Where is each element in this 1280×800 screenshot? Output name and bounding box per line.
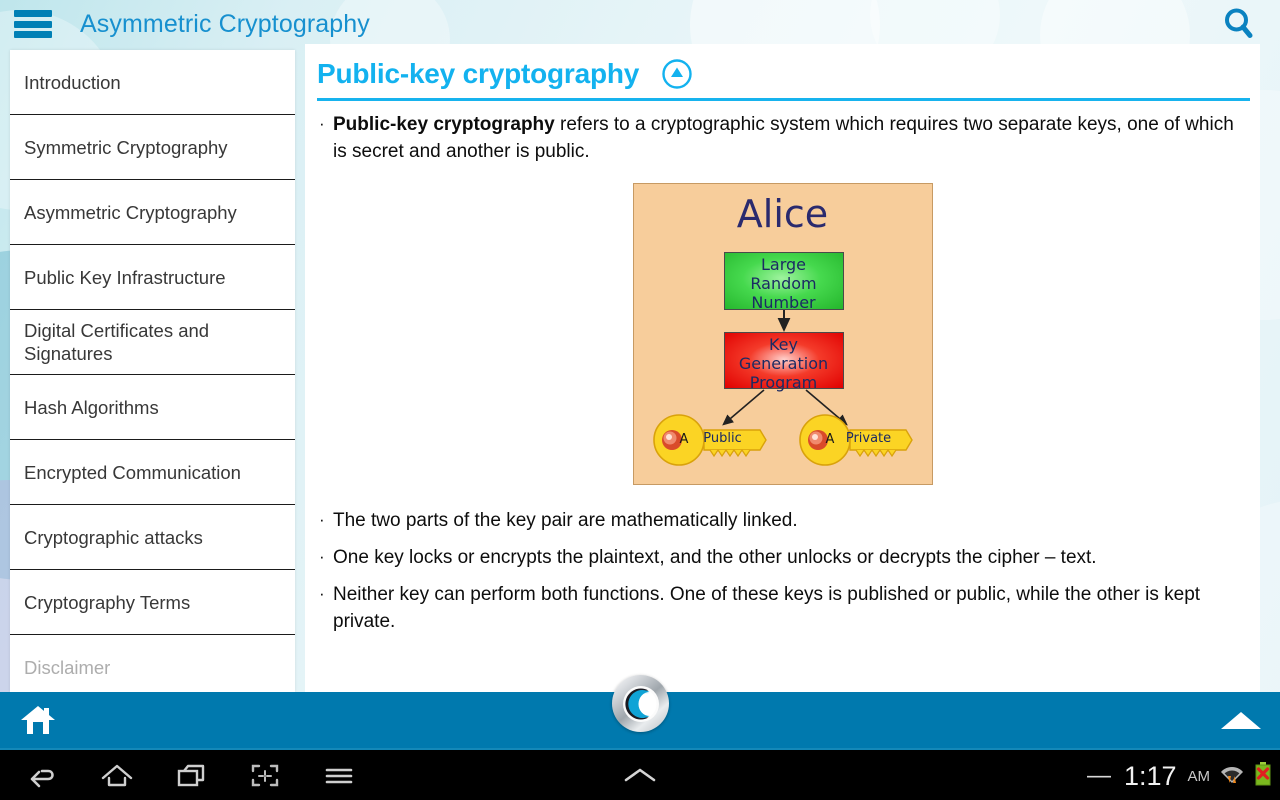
- home-icon[interactable]: [20, 704, 56, 736]
- diagram-key-public: A Public: [648, 414, 768, 466]
- sidebar-item-introduction[interactable]: Introduction: [10, 50, 295, 115]
- brand-crescent-logo-icon[interactable]: [612, 675, 669, 732]
- sidebar-item-label: Public Key Infrastructure: [24, 266, 226, 289]
- page-title: Public-key cryptography: [317, 58, 639, 90]
- sidebar-item-digital-certificates-and-signatures[interactable]: Digital Certificates and Signatures: [10, 310, 295, 375]
- status-minus: —: [1087, 762, 1111, 790]
- sidebar-item-cryptographic-attacks[interactable]: Cryptographic attacks: [10, 505, 295, 570]
- sidebar-item-label: Asymmetric Cryptography: [24, 201, 237, 224]
- key-type-label: Private: [838, 431, 900, 446]
- sidebar-item-asymmetric-cryptography[interactable]: Asymmetric Cryptography: [10, 180, 295, 245]
- bullet-item: · Neither key can perform both functions…: [319, 581, 1248, 635]
- bullet-item: · Public-key cryptography refers to a cr…: [319, 111, 1248, 165]
- wifi-icon: [1219, 761, 1245, 792]
- bullet-item: · The two parts of the key pair are math…: [319, 507, 1248, 534]
- bullet-text: Neither key can perform both functions. …: [333, 581, 1248, 635]
- sidebar-navigation[interactable]: Introduction Symmetric Cryptography Asym…: [10, 50, 295, 692]
- home-outline-icon[interactable]: [80, 749, 154, 800]
- screenshot-icon[interactable]: [228, 749, 302, 800]
- bullet-item: · One key locks or encrypts the plaintex…: [319, 544, 1248, 571]
- sidebar-item-label: Encrypted Communication: [24, 461, 241, 484]
- screen-root: Asymmetric Cryptography Introduction Sym…: [0, 0, 1280, 800]
- status-clock-ampm: AM: [1188, 768, 1211, 785]
- scroll-up-triangle-icon[interactable]: [1220, 710, 1262, 730]
- bullet-marker: ·: [319, 581, 333, 635]
- menu-lines-icon[interactable]: [302, 749, 376, 800]
- sidebar-item-symmetric-cryptography[interactable]: Symmetric Cryptography: [10, 115, 295, 180]
- bullet-text: Public-key cryptography refers to a cryp…: [333, 111, 1248, 165]
- sidebar-item-label: Digital Certificates and Signatures: [24, 319, 281, 365]
- content-header: Public-key cryptography: [305, 44, 1260, 96]
- app-title: Asymmetric Cryptography: [80, 10, 370, 39]
- back-arrow-icon[interactable]: [6, 749, 80, 800]
- status-area: — 1:17 AM: [1087, 750, 1272, 800]
- collapse-up-circle-icon[interactable]: [661, 58, 693, 90]
- sidebar-item-label: Cryptography Terms: [24, 591, 190, 614]
- sidebar-item-label: Disclaimer: [24, 656, 110, 679]
- android-navigation-bar: — 1:17 AM: [0, 748, 1280, 800]
- sidebar-item-label: Cryptographic attacks: [24, 526, 203, 549]
- key-owner-label: A: [826, 432, 835, 447]
- search-icon[interactable]: [1218, 3, 1260, 45]
- diagram-key-private: A Private: [794, 414, 914, 466]
- key-owner-label: A: [680, 432, 689, 447]
- bullet-text: One key locks or encrypts the plaintext,…: [333, 544, 1097, 571]
- sidebar-item-encrypted-communication[interactable]: Encrypted Communication: [10, 440, 295, 505]
- alice-key-generation-diagram: Alice Large Random Number Key Generation…: [633, 183, 933, 485]
- hamburger-menu-icon[interactable]: [14, 10, 52, 38]
- bullet-marker: ·: [319, 111, 333, 165]
- app-top-bar: Asymmetric Cryptography: [0, 0, 1280, 48]
- status-clock-time: 1:17: [1124, 763, 1177, 790]
- bullet-marker: ·: [319, 507, 333, 534]
- bullet-text: The two parts of the key pair are mathem…: [333, 507, 798, 534]
- sidebar-item-label: Introduction: [24, 71, 121, 94]
- bullet-marker: ·: [319, 544, 333, 571]
- recent-apps-icon[interactable]: [154, 749, 228, 800]
- sidebar-item-disclaimer[interactable]: Disclaimer: [10, 635, 295, 692]
- content-panel: Public-key cryptography · Public-key cry…: [305, 44, 1260, 694]
- key-type-label: Public: [692, 431, 754, 446]
- battery-error-icon: [1254, 761, 1272, 792]
- chevron-up-icon[interactable]: [603, 749, 677, 800]
- sidebar-item-hash-algorithms[interactable]: Hash Algorithms: [10, 375, 295, 440]
- sidebar-item-label: Symmetric Cryptography: [24, 136, 228, 159]
- sidebar-item-cryptography-terms[interactable]: Cryptography Terms: [10, 570, 295, 635]
- sidebar-item-label: Hash Algorithms: [24, 396, 159, 419]
- title-underline: [317, 98, 1250, 101]
- bullet-bold-lead: Public-key cryptography: [333, 114, 555, 135]
- sidebar-item-public-key-infrastructure[interactable]: Public Key Infrastructure: [10, 245, 295, 310]
- diagram-container: Alice Large Random Number Key Generation…: [305, 183, 1260, 485]
